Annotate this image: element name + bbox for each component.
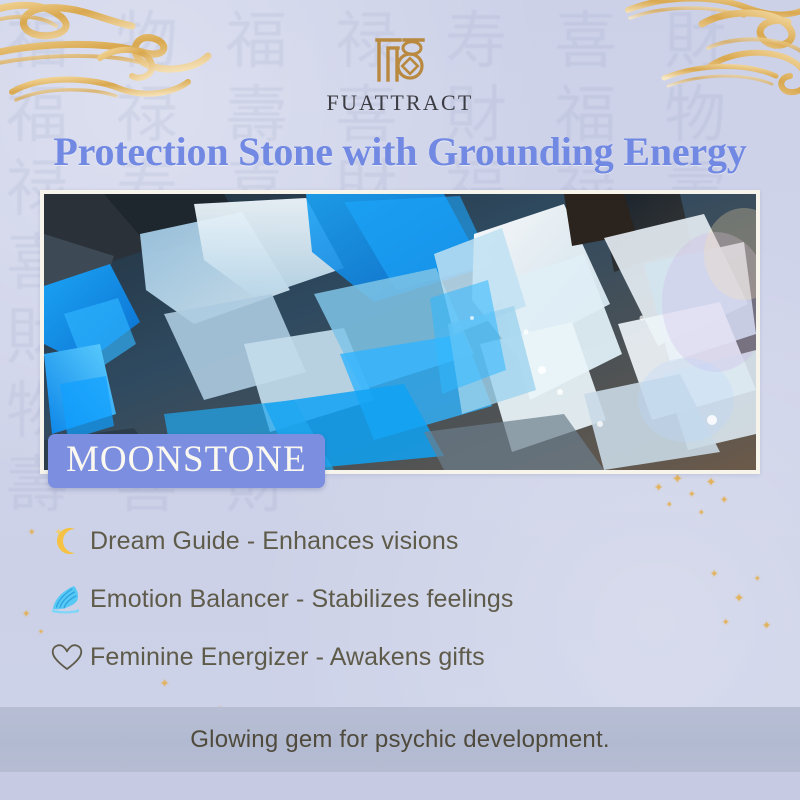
wave-icon — [44, 582, 90, 616]
footer-band: Glowing gem for psychic development. — [0, 707, 800, 772]
moonstone-photo — [44, 194, 756, 470]
footer-tagline: Glowing gem for psychic development. — [190, 726, 609, 754]
feature-text: Feminine Energizer - Awakens gifts — [90, 643, 485, 672]
feature-item: Feminine Energizer - Awakens gifts — [44, 634, 684, 680]
heart-outline-icon — [44, 640, 90, 674]
footer-bottom-strip — [0, 772, 800, 800]
feature-list: Dream Guide - Enhances visions Emotion B… — [44, 518, 684, 692]
crescent-moon-icon — [44, 524, 90, 558]
feature-text: Emotion Balancer - Stabilizes feelings — [90, 585, 513, 614]
gold-sparkles-mid-right: ✦ ✦ ✦ ✦ ✦ — [700, 560, 790, 650]
product-name-badge: MOONSTONE — [48, 434, 325, 488]
hero-image-frame — [40, 190, 760, 474]
page-title: Protection Stone with Grounding Energy — [0, 128, 800, 175]
feature-item: Dream Guide - Enhances visions — [44, 518, 684, 564]
poster-canvas: 福 物 福 禄 寿 喜 財 福 禄 壽 喜 財 福 物 禄 寿 喜 財 福 禄 … — [0, 0, 800, 800]
feature-item: Emotion Balancer - Stabilizes feelings — [44, 576, 684, 622]
gate-coin-logo-icon — [374, 34, 426, 84]
feature-text: Dream Guide - Enhances visions — [90, 527, 458, 556]
brand-name: FUATTRACT — [327, 90, 474, 116]
brand-logo: FUATTRACT — [0, 34, 800, 116]
